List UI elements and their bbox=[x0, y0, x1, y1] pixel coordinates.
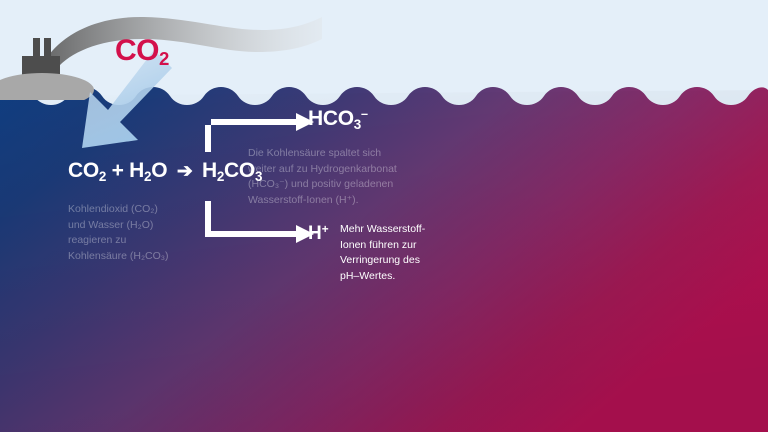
infographic-ocean-acidification: CO2 CO2 + H2O ➔ H2CO3 HCO3– H+ Kohlendio… bbox=[0, 0, 768, 432]
co2-headline: CO2 bbox=[115, 36, 169, 66]
hydrogen-ion-base: H bbox=[308, 223, 322, 244]
caption-reaction-left: Kohlendioxid (CO₂) und Wasser (H₂O) reag… bbox=[68, 202, 218, 264]
co2-headline-base: CO bbox=[115, 34, 159, 67]
equation-reactant-h2o-o: O bbox=[151, 159, 167, 182]
product-label-hydrogen-ion: H+ bbox=[308, 224, 329, 243]
bicarbonate-base: HCO bbox=[308, 107, 354, 130]
equation-reactant-co2: CO bbox=[68, 159, 99, 182]
equation-plus-sign: + bbox=[112, 159, 124, 182]
caption-dissociation-middle: Die Kohlensäure spaltet sich weiter auf … bbox=[248, 146, 453, 208]
equation-co2-sub: 2 bbox=[99, 169, 106, 184]
co2-headline-sub: 2 bbox=[159, 48, 169, 69]
product-label-bicarbonate: HCO3– bbox=[308, 108, 368, 129]
bicarbonate-sub: 3 bbox=[354, 117, 361, 132]
equation-h2o-sub: 2 bbox=[144, 169, 151, 184]
bicarbonate-sup: – bbox=[361, 107, 368, 121]
caption-ph-right: Mehr Wasserstoff- Ionen führen zur Verri… bbox=[340, 222, 465, 284]
equation-reactant-h2o-h: H bbox=[129, 159, 144, 182]
equation-yields-arrow-icon: ➔ bbox=[173, 162, 197, 181]
hydrogen-ion-sup: + bbox=[322, 223, 329, 236]
